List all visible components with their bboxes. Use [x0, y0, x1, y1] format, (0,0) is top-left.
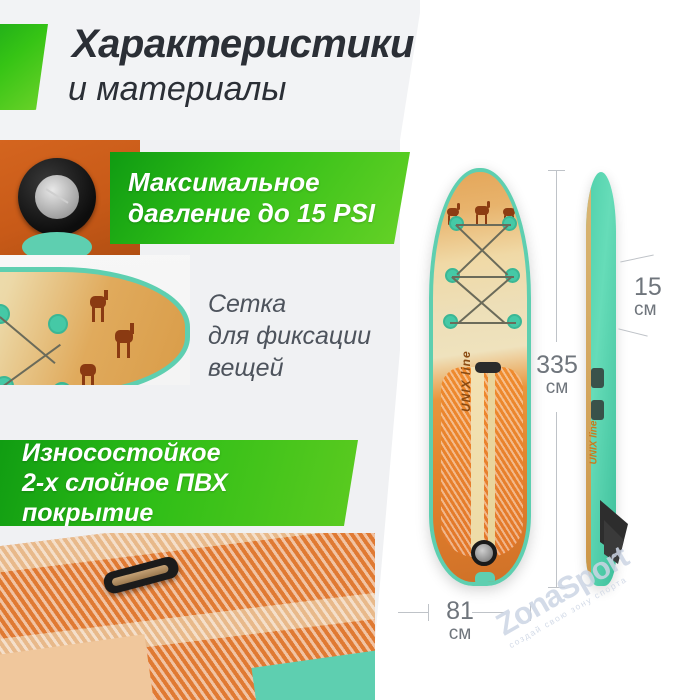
deck-stripe-2	[488, 367, 495, 557]
carry-handle	[102, 555, 181, 596]
photo-inset-cargo-net	[0, 255, 190, 385]
feature-banner-pvc-coating: Износостойкое 2-х слойное ПВХ покрытие	[0, 440, 358, 526]
dim-length-line-bottom	[556, 412, 557, 588]
dim-width-line-left	[398, 612, 428, 613]
dim-label-width: 81 см	[430, 598, 490, 644]
brand-label-top: UNIX line	[459, 350, 473, 412]
feature-max-pressure-line2: давление до 15 PSI	[128, 198, 375, 229]
feature-pvc-line2: 2-х слойное ПВХ покрытие	[22, 468, 358, 528]
brand-label-side: UNIX line	[588, 421, 599, 465]
dim-length-tick-bottom	[548, 587, 565, 588]
header-bg-right	[400, 0, 700, 140]
dim-thickness-value: 15	[634, 273, 662, 301]
board-nose-closeup	[0, 267, 190, 385]
feature-cargo-net-line1: Сетка	[208, 288, 371, 320]
photo-inset-pvc-texture	[0, 533, 375, 700]
page-title-line2: и материалы	[68, 72, 286, 106]
feature-pvc-line1: Износостойкое	[22, 438, 358, 468]
dim-width-value: 81	[446, 597, 474, 625]
dim-label-thickness: 15 см	[634, 274, 690, 320]
dim-length-unit: см	[526, 378, 588, 398]
valve-ring	[18, 158, 96, 236]
deck-pad	[441, 367, 523, 557]
valve-cap	[35, 175, 79, 219]
tail-d-ring	[475, 572, 495, 586]
valve-pin	[45, 188, 68, 203]
feature-cargo-net-line2: для фиксации	[208, 320, 371, 352]
feature-max-pressure-line1: Максимальное	[128, 167, 375, 198]
dim-length-value: 335	[536, 351, 578, 379]
infographic-canvas: Характеристики и материалы	[0, 0, 700, 700]
page-title-line1: Характеристики	[72, 24, 414, 64]
top-view-handle	[475, 362, 501, 373]
side-handle-upper	[591, 368, 604, 388]
dim-length-line-top	[556, 170, 557, 342]
dim-width-tick-left	[428, 604, 429, 621]
header: Характеристики и материалы	[0, 0, 700, 140]
dim-label-length: 335 см	[526, 352, 588, 398]
air-valve	[471, 540, 497, 566]
dim-width-tick-right	[530, 604, 531, 621]
dim-width-unit: см	[430, 624, 490, 644]
feature-banner-max-pressure: Максимальное давление до 15 PSI	[110, 152, 410, 244]
dim-thickness-unit: см	[634, 300, 690, 320]
carry-handle-strap	[111, 564, 169, 587]
feature-cargo-net-line3: вещей	[208, 352, 371, 384]
feature-text-cargo-net: Сетка для фиксации вещей	[208, 288, 371, 384]
sup-board-top-view: UNIX line	[429, 168, 531, 586]
dim-length-tick-top	[548, 170, 565, 171]
side-handle-lower	[591, 400, 604, 420]
